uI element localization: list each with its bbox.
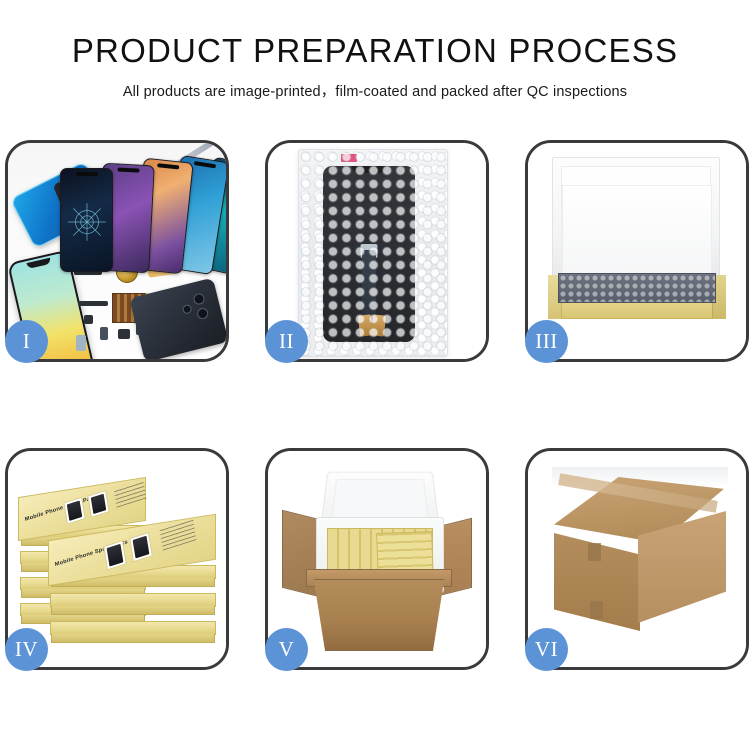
carton-body [308,579,450,651]
steps-grid: I II [5,140,745,670]
retail-box-stack: Mobile Phone Spare Parts Mobile Phone Sp… [14,469,224,655]
step-panel-6: VI [525,448,749,670]
box-side [51,606,215,615]
step-badge-2: II [265,320,308,363]
grey-bubble-padding [558,273,716,303]
camera-lens-icon [196,307,209,320]
camera-part [118,329,130,339]
box-spec-lines [159,519,196,551]
screen-graphic [133,536,150,559]
screen-graphic [67,500,82,520]
notch-icon [117,167,139,172]
step-badge-1: I [5,320,48,363]
step-panel-2: II [265,140,489,362]
step-panel-3: III [525,140,749,362]
screw-part [84,315,93,324]
screen-graphic [107,544,124,567]
pink-tape-label [341,154,357,162]
page-title: PRODUCT PREPARATION PROCESS [0,33,750,69]
step-badge-3: III [525,320,568,363]
white-foam-sheet [562,185,712,283]
connector-part [100,327,108,340]
page-subtitle: All products are image-printed，film-coat… [0,80,750,101]
gold-contact [371,314,386,336]
step-badge-6: VI [525,628,568,671]
carton-tape-mark [590,601,603,619]
carton-tape-mark [588,543,601,561]
retail-box [50,593,216,607]
bracket-part [78,301,108,306]
button-part [76,335,86,351]
lcd-screen-assembly [323,166,415,342]
step-panel-5: V [265,448,489,670]
screen-graphic [91,494,106,514]
phone-display-fan [60,157,226,272]
retail-box [50,621,216,635]
product-preparation-process-infographic: PRODUCT PREPARATION PROCESS All products… [0,0,750,750]
shatter-graphic [66,201,108,243]
camera-lens-icon [192,292,205,305]
box-spec-lines [114,479,147,508]
phone-display-1 [60,168,113,272]
box-window [103,540,127,570]
box-window [63,497,85,525]
notch-icon [157,163,179,169]
notch-icon [193,161,215,168]
notch-icon [76,172,98,176]
step-panel-4: Mobile Phone Spare Parts Mobile Phone Sp… [5,448,229,670]
step-badge-5: V [265,628,308,671]
bubble-wrap-bag [298,149,448,357]
box-side [51,634,215,643]
camera-lens-icon [182,304,193,315]
step-badge-4: IV [5,628,48,671]
box-window [129,532,153,562]
header: PRODUCT PREPARATION PROCESS All products… [0,0,750,101]
box-window [87,490,109,518]
step-panel-1: I [5,140,229,362]
